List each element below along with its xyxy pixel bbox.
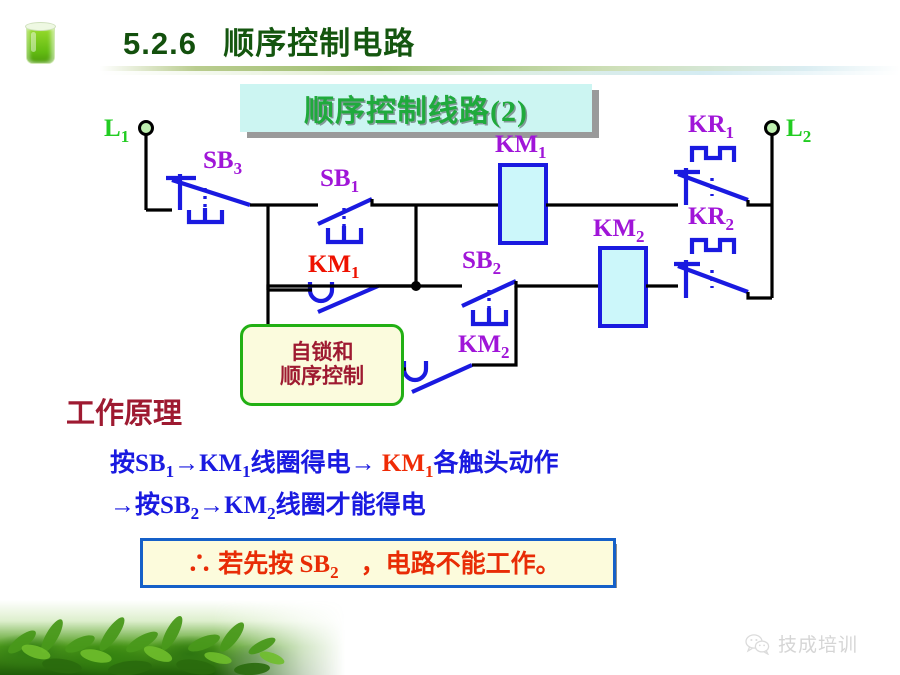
- component-SB1-label: SB1: [320, 165, 359, 196]
- terminal-L1-label: L1: [104, 115, 129, 146]
- glass-highlight: [31, 32, 36, 52]
- component-SB1: SB1: [318, 165, 372, 242]
- exp1-seg3: 线圈得电→: [251, 450, 382, 477]
- exp2-seg3: 线圈才能得电: [276, 492, 426, 519]
- component-KR1-label: KR1: [688, 111, 734, 142]
- component-KM2-contact: KM2: [404, 331, 510, 392]
- exp1-sub2: 1: [242, 462, 251, 481]
- component-KM1-contact: KM1: [308, 251, 378, 312]
- component-KR2: KR2: [674, 203, 748, 298]
- section-number: 5.2.6: [123, 26, 197, 61]
- glass-rim: [25, 22, 56, 31]
- conclusion-box: ∴ 若先按 SB2，电路不能工作。: [140, 538, 616, 588]
- exp1-seg4: 各触头动作: [433, 450, 558, 477]
- green-tea-glass-icon: [22, 20, 58, 64]
- slide-canvas: 5.2.6 顺序控制电路 顺序控制线路(2) .w{stroke:#000;st…: [0, 0, 900, 675]
- explanation-line-1: 按SB1→KM1线圈得电→ KM1各触头动作: [110, 443, 558, 482]
- component-KM1-coil-label: KM1: [495, 131, 547, 162]
- component-KM2-coil: KM2: [593, 215, 646, 326]
- exp1-seg1: 按SB: [110, 450, 166, 477]
- component-SB2: SB2: [462, 247, 516, 324]
- section-title: 顺序控制电路: [223, 26, 415, 61]
- page-title: 5.2.6 顺序控制电路: [123, 18, 415, 63]
- component-KM2-contact-label: KM2: [458, 331, 510, 362]
- component-KM1-coil: KM1: [495, 131, 547, 243]
- component-SB3-label: SB3: [203, 147, 242, 178]
- explanation-line-2: →按SB2→KM2线圈才能得电: [110, 485, 426, 524]
- component-SB2-label: SB2: [462, 247, 501, 278]
- exp1-sub1: 1: [166, 462, 175, 481]
- callout-box: 自锁和 顺序控制: [240, 324, 404, 406]
- conclusion-text: ∴ 若先按 SB2，电路不能工作。: [143, 544, 561, 583]
- conclusion-prefix: ∴ 若先按 SB: [165, 551, 330, 578]
- tea-leaves-decoration: [0, 600, 345, 675]
- terminal-L2-label: L2: [786, 115, 811, 146]
- circuit-diagram: .w{stroke:#000;stroke-width:3.2;fill:non…: [0, 100, 900, 430]
- conclusion-suffix: ，电路不能工作。: [339, 551, 561, 578]
- exp2-seg2: →KM: [199, 492, 267, 519]
- wechat-icon: [745, 633, 771, 655]
- exp2-sub2: 2: [267, 504, 276, 523]
- watermark: 技成培训: [745, 630, 858, 657]
- conclusion-sub: 2: [330, 563, 339, 582]
- component-KM2-coil-label: KM2: [593, 215, 645, 246]
- exp1-seg2: →KM: [174, 450, 242, 477]
- exp2-sub1: 2: [191, 504, 200, 523]
- exp1-highlight: KM: [382, 450, 425, 477]
- header-divider-secondary: [100, 71, 900, 75]
- callout-line-2: 顺序控制: [280, 365, 364, 389]
- callout-line-1: 自锁和: [291, 341, 354, 365]
- exp2-seg1: →按SB: [110, 492, 191, 519]
- component-KR1: KR1: [674, 111, 748, 205]
- leaves-shapes: [0, 600, 345, 675]
- component-KR2-label: KR2: [688, 203, 734, 234]
- component-SB3: SB3: [166, 147, 250, 222]
- watermark-label: 技成培训: [778, 630, 858, 657]
- principle-heading: 工作原理: [66, 390, 182, 432]
- component-KM1-contact-label: KM1: [308, 251, 360, 282]
